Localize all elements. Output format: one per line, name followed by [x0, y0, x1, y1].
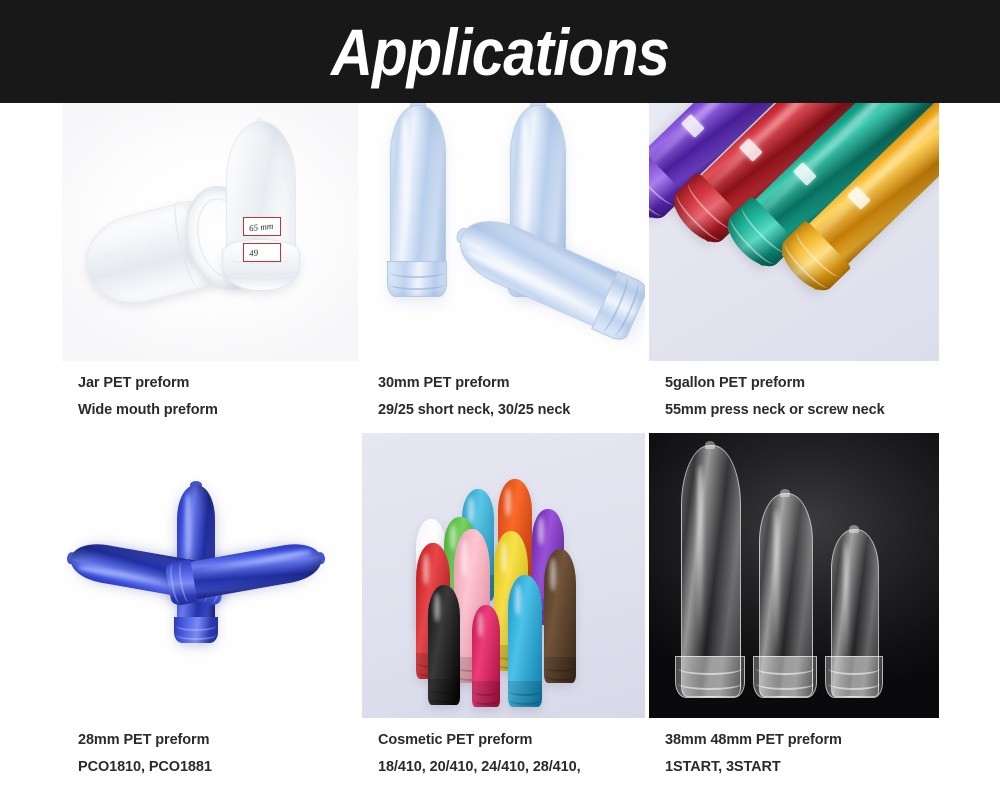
- product-cell-jar-pet-preform[interactable]: 65 mm 49 Jar PET preform Wide mouth pref…: [62, 103, 358, 361]
- caption-line2-5gallon-pet-preform: 55mm press neck or screw neck: [665, 402, 885, 418]
- handwritten-label-tag-2: 49: [243, 243, 281, 262]
- clear-preform-medium: [759, 493, 811, 695]
- caption-line1-jar-pet-preform: Jar PET preform: [78, 375, 189, 391]
- caption-line2-cosmetic-pet-preform: 18/410, 20/410, 24/410, 28/410,: [378, 759, 581, 775]
- caption-line2-28mm-pet-preform: PCO1810, PCO1881: [78, 759, 212, 775]
- handwritten-label-tag-1: 65 mm: [243, 217, 281, 236]
- product-photo-28mm-pet-preform: [62, 433, 358, 718]
- product-cell-30mm-pet-preform[interactable]: 30mm PET preform 29/25 short neck, 30/25…: [362, 103, 645, 361]
- cosmetic-preform-magenta: [472, 605, 500, 707]
- product-cell-5gallon-pet-preform[interactable]: 5gallon PET preform 55mm press neck or s…: [649, 103, 939, 361]
- caption-line2-38mm-48mm-pet-preform: 1START, 3START: [665, 759, 781, 775]
- label-tag-text-1: 65 mm: [249, 221, 274, 233]
- caption-line2-30mm-pet-preform: 29/25 short neck, 30/25 neck: [378, 402, 570, 418]
- clear-preform-tall: [681, 445, 739, 695]
- product-cell-28mm-pet-preform[interactable]: 28mm PET preform PCO1810, PCO1881: [62, 433, 358, 718]
- label-tag-text-2: 49: [249, 248, 259, 259]
- clear-preform-short: [831, 529, 877, 695]
- product-cell-38mm-48mm-pet-preform[interactable]: 38mm 48mm PET preform 1START, 3START: [649, 433, 939, 718]
- cosmetic-preform-cyan: [508, 575, 542, 707]
- product-photo-cosmetic-pet-preform: [362, 433, 645, 718]
- caption-line1-28mm-pet-preform: 28mm PET preform: [78, 732, 209, 748]
- caption-line1-cosmetic-pet-preform: Cosmetic PET preform: [378, 732, 532, 748]
- page-title: Applications: [60, 0, 940, 103]
- blue-preform-standing-left: [390, 105, 444, 295]
- cosmetic-preform-black: [428, 585, 460, 705]
- caption-line1-30mm-pet-preform: 30mm PET preform: [378, 375, 509, 391]
- product-photo-5gallon-pet-preform: [649, 103, 939, 361]
- jar-preform-upright: 65 mm 49: [222, 121, 298, 293]
- caption-line2-jar-pet-preform: Wide mouth preform: [78, 402, 218, 418]
- product-grid: 65 mm 49 Jar PET preform Wide mouth pref…: [0, 103, 1000, 800]
- caption-line1-38mm-48mm-pet-preform: 38mm 48mm PET preform: [665, 732, 842, 748]
- applications-page: Applications 65 mm: [0, 0, 1000, 800]
- product-photo-38mm-48mm-pet-preform: [649, 433, 939, 718]
- cosmetic-preform-brown: [544, 549, 576, 683]
- caption-line1-5gallon-pet-preform: 5gallon PET preform: [665, 375, 805, 391]
- header-bar: Applications: [0, 0, 1000, 103]
- product-photo-30mm-pet-preform: [362, 103, 645, 361]
- product-photo-jar-pet-preform: 65 mm 49: [62, 103, 358, 361]
- product-cell-cosmetic-pet-preform[interactable]: Cosmetic PET preform 18/410, 20/410, 24/…: [362, 433, 645, 718]
